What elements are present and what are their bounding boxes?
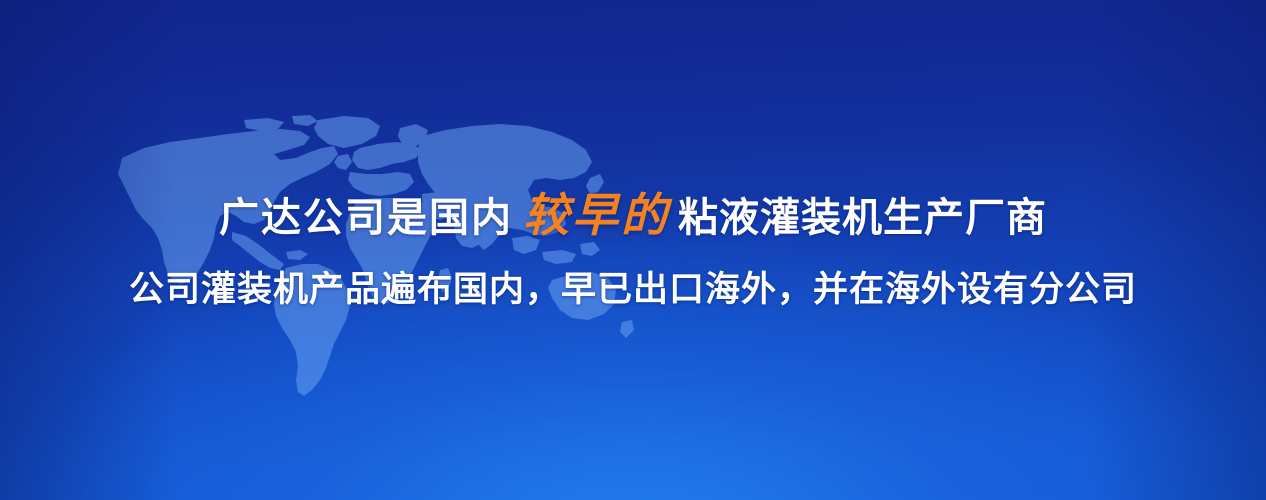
headline-segment-before: 广达公司是国内 — [219, 196, 519, 240]
headline-primary: 广达公司是国内较早的粘液灌装机生产厂商 — [0, 186, 1266, 247]
promotional-banner: 广达公司是国内较早的粘液灌装机生产厂商 公司灌装机产品遍布国内，早已出口海外，并… — [0, 0, 1266, 500]
headline-segment-after: 粘液灌装机生产厂商 — [676, 196, 1047, 240]
subheadline-text: 公司灌装机产品遍布国内，早已出口海外，并在海外设有分公司 — [0, 267, 1266, 313]
headline-accent-text: 较早的 — [519, 189, 676, 241]
headline-block: 广达公司是国内较早的粘液灌装机生产厂商 公司灌装机产品遍布国内，早已出口海外，并… — [0, 186, 1266, 313]
